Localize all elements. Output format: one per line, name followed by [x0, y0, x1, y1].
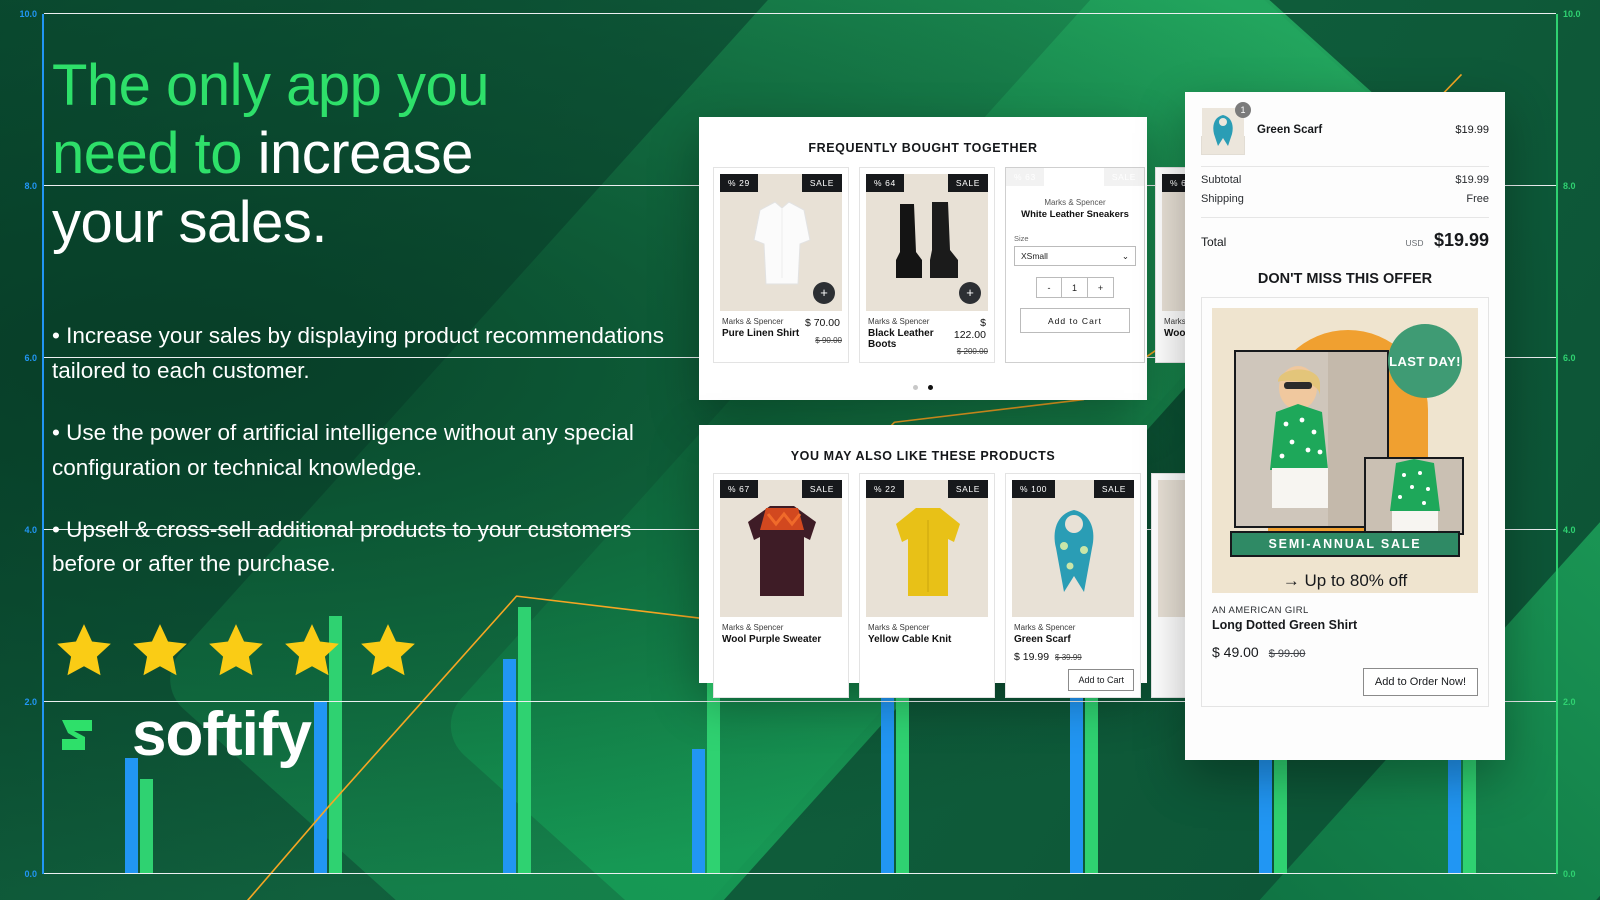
offer-brand: AN AMERICAN GIRL [1212, 593, 1478, 616]
product-price: $ 19.99 [1014, 651, 1049, 663]
cart-qty-badge: 1 [1235, 102, 1251, 118]
chart-left-tick: 8.0 [24, 181, 37, 191]
plus-icon[interactable]: + [959, 282, 981, 304]
product-brand: Marks & Spencer [722, 317, 799, 326]
product-card[interactable]: % 22 SALE Marks & Spencer Yellow Cable K… [859, 473, 995, 698]
sale-badge: SALE [802, 480, 842, 498]
product-card[interactable]: % 29 SALE + Marks & Spencer Pure Linen S… [713, 167, 849, 363]
chart-left-tick: 2.0 [24, 697, 37, 707]
total-value: $19.99 [1434, 230, 1489, 250]
product-brand: Marks & Spencer [868, 623, 951, 632]
product-price: $ 122.00 [951, 317, 986, 341]
product-image: % 67 SALE [720, 480, 842, 617]
chevron-down-icon: ⌄ [1122, 251, 1129, 262]
chart-left-tick: 0.0 [24, 869, 37, 879]
offer-price-row: $ 49.00 $ 99.00 [1212, 644, 1478, 660]
product-card[interactable]: % 100 SALE Marks & Spencer Green Scarf $… [1005, 473, 1141, 698]
star-icon [204, 620, 268, 682]
carousel-dots[interactable] [699, 377, 1147, 395]
softify-s-mark-icon [52, 704, 114, 766]
total-label: Total [1201, 235, 1226, 249]
chart-right-tick: 4.0 [1563, 525, 1576, 535]
cart-item-thumbnail: 1 [1201, 108, 1245, 152]
sale-badge: SALE [948, 174, 988, 192]
discount-badge: % 67 [720, 480, 758, 498]
headline-line-2-white: increase [258, 121, 473, 186]
quantity-value: 1 [1062, 277, 1088, 298]
cart-subtotal-row: Subtotal $19.99 [1185, 167, 1505, 186]
quantity-decrement-button[interactable]: - [1036, 277, 1062, 298]
chart-gridline [44, 873, 1556, 874]
product-image: % 29 SALE + [720, 174, 842, 311]
feature-bullet-2: • Use the power of artificial intelligen… [52, 416, 672, 485]
product-image: % 22 SALE [866, 480, 988, 617]
quantity-increment-button[interactable]: + [1088, 277, 1114, 298]
product-card[interactable]: % 64 SALE + Marks & Spencer Black Leathe… [859, 167, 995, 363]
product-name: Green Scarf [1014, 634, 1075, 645]
shipping-value: Free [1466, 193, 1489, 205]
product-image: % 100 SALE [1012, 480, 1134, 617]
chart-right-tick: 10.0 [1563, 9, 1581, 19]
frequently-bought-together-panel: FREQUENTLY BOUGHT TOGETHER % 29 SALE + M… [699, 117, 1147, 400]
cart-total-row: Total USD $19.99 [1185, 218, 1505, 251]
star-icon [128, 620, 192, 682]
discount-badge: % 64 [866, 174, 904, 192]
brand-name: softify [132, 704, 311, 766]
promo-sale-bar: SEMI-ANNUAL SALE [1230, 531, 1460, 557]
cart-item-name: Green Scarf [1245, 124, 1455, 136]
product-name: Wool Purple Sweater [722, 634, 821, 645]
size-select[interactable]: XSmall ⌄ [1014, 246, 1136, 266]
chart-right-tick: 0.0 [1563, 869, 1576, 879]
ymal-product-row: % 67 SALE Marks & Spencer Wool Purple Sw… [699, 463, 1147, 698]
marketing-column: The only app you need to increase your s… [52, 52, 692, 766]
cart-line-item: 1 Green Scarf $19.99 [1185, 92, 1505, 166]
headline-line-1: The only app you [52, 53, 489, 118]
product-variant-card[interactable]: % 63 SALE Marks & Spencer White Leather … [1005, 167, 1145, 363]
product-price: $ 70.00 [805, 317, 840, 329]
fbt-product-row: % 29 SALE + Marks & Spencer Pure Linen S… [699, 155, 1147, 363]
variant-brand: Marks & Spencer [1014, 198, 1136, 207]
chart-left-tick: 6.0 [24, 353, 37, 363]
chart-gridline [44, 13, 1556, 14]
rating-stars [52, 620, 692, 682]
size-label: Size [1014, 234, 1136, 243]
promo-banner: LAST DAY! SEMI-ANNUAL SALE → Up to 80% o… [1212, 308, 1478, 593]
last-day-badge-text: LAST DAY! [1389, 354, 1461, 369]
discount-badge: % 100 [1012, 480, 1055, 498]
headline-line-3: your sales. [52, 190, 327, 255]
chart-right-tick: 8.0 [1563, 181, 1576, 191]
star-icon [356, 620, 420, 682]
product-name: Black Leather Boots [868, 328, 951, 350]
model-photo-back [1364, 457, 1464, 535]
shipping-label: Shipping [1201, 193, 1244, 205]
plus-icon[interactable]: + [813, 282, 835, 304]
carousel-dot[interactable] [913, 385, 918, 390]
fbt-title: FREQUENTLY BOUGHT TOGETHER [699, 117, 1147, 155]
product-meta: Marks & Spencer Green Scarf [1012, 617, 1134, 649]
product-image: % 64 SALE + [866, 174, 988, 311]
product-brand: Marks & Spencer [1014, 623, 1075, 632]
sale-badge: SALE [948, 480, 988, 498]
variant-product-name: White Leather Sneakers [1014, 209, 1136, 220]
product-meta: Marks & Spencer Wool Purple Sweater [720, 617, 842, 649]
feature-bullets: • Increase your sales by displaying prod… [52, 319, 692, 582]
feature-bullet-1: • Increase your sales by displaying prod… [52, 319, 672, 388]
chart-right-axis: 0.02.04.06.08.010.0 [1556, 14, 1558, 874]
ymal-title: YOU MAY ALSO LIKE THESE PRODUCTS [699, 425, 1147, 463]
product-brand: Marks & Spencer [722, 623, 821, 632]
offer-card: LAST DAY! SEMI-ANNUAL SALE → Up to 80% o… [1201, 297, 1489, 707]
sale-badge: SALE [1094, 480, 1134, 498]
product-old-price: $ 39.99 [1055, 653, 1082, 662]
add-to-order-button[interactable]: Add to Order Now! [1363, 668, 1478, 696]
add-to-cart-button[interactable]: Add to Cart [1068, 669, 1134, 691]
offer-price: $ 49.00 [1212, 644, 1259, 660]
offer-title: DON'T MISS THIS OFFER [1185, 251, 1505, 297]
star-icon [52, 620, 116, 682]
brand-logo: softify [52, 704, 692, 766]
cart-shipping-row: Shipping Free [1185, 186, 1505, 205]
feature-bullet-3: • Upsell & cross-sell additional product… [52, 513, 672, 582]
subtotal-label: Subtotal [1201, 174, 1241, 186]
chart-left-tick: 10.0 [19, 9, 37, 19]
discount-badge: % 22 [866, 480, 904, 498]
chart-left-tick: 4.0 [24, 525, 37, 535]
offer-product-name: Long Dotted Green Shirt [1212, 618, 1478, 632]
page-title: The only app you need to increase your s… [52, 52, 692, 257]
star-icon [280, 620, 344, 682]
chart-right-tick: 6.0 [1563, 353, 1576, 363]
chart-right-tick: 2.0 [1563, 697, 1576, 707]
carousel-dot-active[interactable] [928, 385, 933, 390]
product-name: Yellow Cable Knit [868, 634, 951, 645]
currency-code: USD [1406, 238, 1424, 248]
add-to-cart-button[interactable]: Add to Cart [1020, 308, 1130, 333]
discount-badge: % 29 [720, 174, 758, 192]
cart-upsell-panel: 1 Green Scarf $19.99 Subtotal $19.99 Shi… [1185, 92, 1505, 760]
green-scarf-thumb-icon [1201, 136, 1245, 155]
you-may-also-like-panel: YOU MAY ALSO LIKE THESE PRODUCTS % 67 SA… [699, 425, 1147, 683]
headline-line-2-green: need to [52, 121, 258, 186]
product-card[interactable]: % 67 SALE Marks & Spencer Wool Purple Sw… [713, 473, 849, 698]
sale-badge: SALE [802, 174, 842, 192]
last-day-badge: LAST DAY! [1388, 324, 1462, 398]
cart-item-price: $19.99 [1455, 124, 1489, 136]
product-brand: Marks & Spencer [868, 317, 951, 326]
product-name: Pure Linen Shirt [722, 328, 799, 339]
quantity-stepper[interactable]: - 1 + [1014, 277, 1136, 298]
subtotal-value: $19.99 [1455, 174, 1489, 186]
offer-old-price: $ 99.00 [1269, 648, 1306, 660]
product-meta: Marks & Spencer Yellow Cable Knit [866, 617, 988, 649]
size-select-value: XSmall [1021, 251, 1048, 261]
promo-discount-text: → Up to 80% off [1212, 571, 1478, 591]
